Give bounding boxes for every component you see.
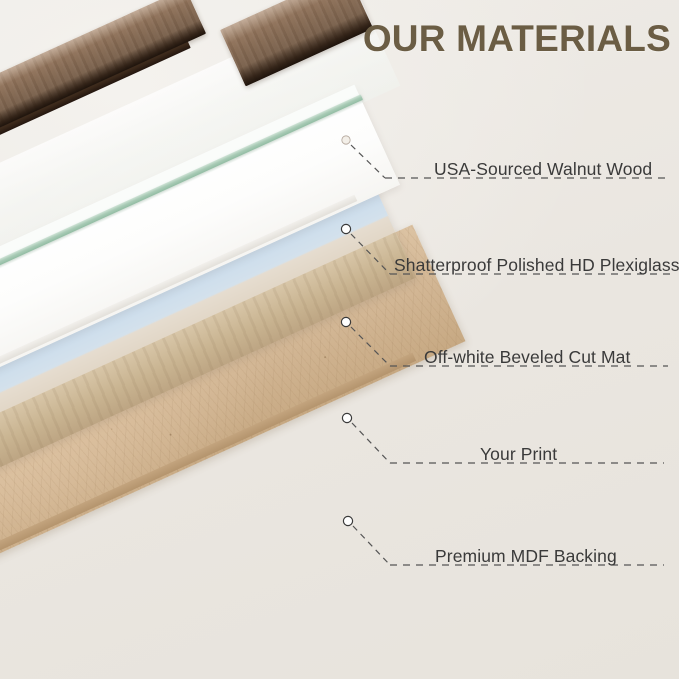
callout-leader-diagonal-mat bbox=[351, 327, 390, 366]
callout-label-print: Your Print bbox=[480, 444, 557, 465]
callout-label-walnut-wood: USA-Sourced Walnut Wood bbox=[434, 159, 652, 180]
callout-leader-lines bbox=[0, 0, 679, 679]
callout-label-plexiglass: Shatterproof Polished HD Plexiglass bbox=[394, 255, 679, 276]
callout-marker-print bbox=[342, 413, 351, 422]
callout-leader-diagonal-print bbox=[352, 423, 390, 463]
callout-marker-mat bbox=[341, 317, 350, 326]
callout-leader-diagonal-walnut-wood bbox=[351, 145, 385, 178]
callout-label-mat: Off-white Beveled Cut Mat bbox=[424, 347, 630, 368]
infographic-canvas: OUR MATERIALS USA-Sourced Walnut Wood Sh… bbox=[0, 0, 679, 679]
callout-leader-diagonal-mdf-backing bbox=[353, 526, 390, 565]
callout-label-mdf-backing: Premium MDF Backing bbox=[435, 546, 617, 567]
callout-marker-plexiglass bbox=[341, 224, 350, 233]
callout-marker-walnut-wood bbox=[342, 136, 350, 144]
callout-overlay: USA-Sourced Walnut Wood Shatterproof Pol… bbox=[0, 0, 679, 679]
callout-leader-diagonal-plexiglass bbox=[351, 234, 390, 274]
callout-marker-mdf-backing bbox=[343, 516, 352, 525]
